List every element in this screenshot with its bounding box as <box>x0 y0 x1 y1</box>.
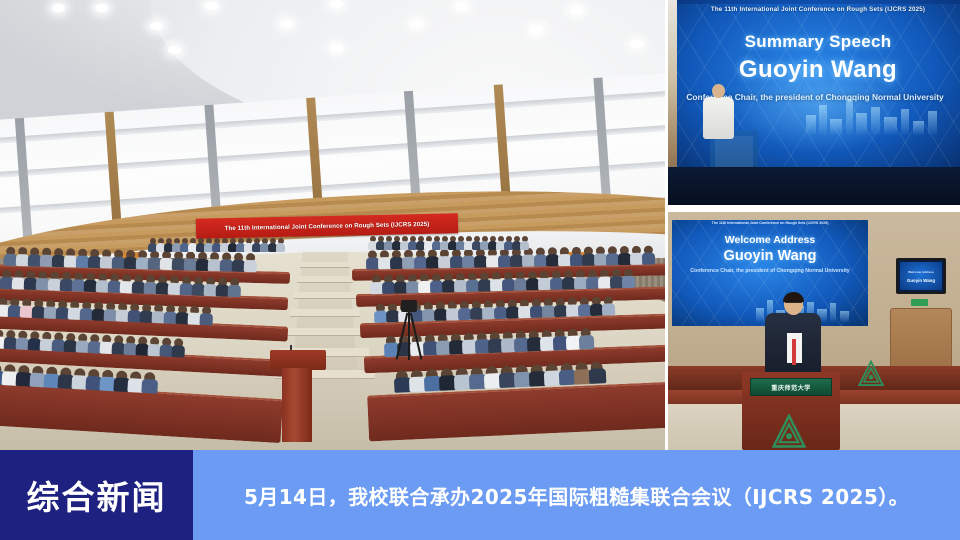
skyline-building <box>928 111 937 135</box>
speaker-podium <box>270 350 326 442</box>
speaker-figure <box>702 84 736 164</box>
ceiling-light-icon <box>205 2 218 10</box>
podium-top <box>270 350 326 370</box>
aisle-step <box>286 328 364 336</box>
monitor-title: Welcome Address <box>900 270 942 274</box>
skyline-building <box>830 119 842 135</box>
tripod-leg <box>410 312 423 359</box>
audience-row-back <box>370 236 530 250</box>
audience-row-back <box>150 238 286 252</box>
speaker-suit <box>765 313 821 379</box>
ceiling-light-icon <box>455 2 468 10</box>
skyline-building <box>884 117 897 135</box>
slide-speaker-role: Conference Chair, the president of Chong… <box>672 268 868 274</box>
skyline-graphic <box>802 95 952 135</box>
aisle-step <box>297 276 353 283</box>
ceiling-light-icon <box>52 4 65 12</box>
skyline-building <box>846 99 853 135</box>
news-image-card: The 11th International Joint Conference … <box>0 0 960 540</box>
slide-speaker-name: Guoyin Wang <box>672 248 868 264</box>
news-headline-text: 5月14日，我校联合承办2025年国际粗糙集联合会议（IJCRS 2025）。 <box>244 481 909 510</box>
speaker-head <box>712 84 725 98</box>
tripod-leg <box>408 312 410 360</box>
photo-summary-speech: The 11th International Joint Conference … <box>668 0 960 205</box>
aisle-step <box>290 309 360 317</box>
ceiling-light-icon <box>330 44 343 52</box>
skyline-building <box>901 109 909 135</box>
exit-sign-icon <box>911 299 928 306</box>
slide-title: Welcome Address <box>672 234 868 246</box>
speaker-body <box>703 97 734 139</box>
video-camera-icon <box>401 300 417 312</box>
ceiling-light-icon <box>570 6 583 14</box>
side-monitor: Welcome Address Guoyin Wang <box>896 258 946 294</box>
slide-conference-line: The 11th International Joint Conference … <box>712 221 829 225</box>
monitor-speaker-name: Guoyin Wang <box>900 278 942 283</box>
speaker-hair <box>783 292 804 302</box>
news-category-block[interactable]: 综合新闻 <box>0 450 193 540</box>
aisle-step <box>294 292 356 299</box>
skyline-building <box>756 308 764 322</box>
photo-main-auditorium: The 11th International Joint Conference … <box>0 0 665 450</box>
skyline-building <box>806 115 816 135</box>
caption-bar: 综合新闻 5月14日，我校联合承办2025年国际粗糙集联合会议（IJCRS 20… <box>0 450 960 540</box>
aisle-step <box>300 262 350 268</box>
photo-welcome-address: The 11th International Joint Conference … <box>668 212 960 450</box>
slide-title: Summary Speech <box>676 32 960 52</box>
skyline-building <box>819 105 827 135</box>
ceiling-light-icon <box>150 22 163 30</box>
ceiling-light-icon <box>330 0 343 8</box>
podium-column <box>282 368 312 442</box>
camera-tripod <box>395 300 423 360</box>
ceiling-light-icon <box>630 40 643 48</box>
ceiling-light-icon <box>95 4 108 12</box>
podium-university-name: 重庆师范大学 <box>771 383 811 392</box>
ceiling-light-icon <box>530 26 543 34</box>
university-emblem-icon <box>772 414 806 450</box>
university-emblem-icon <box>858 360 884 388</box>
news-category-label: 综合新闻 <box>27 471 167 519</box>
side-monitor-screen: Welcome Address Guoyin Wang <box>900 262 942 290</box>
skyline-building <box>840 311 849 322</box>
slide-speaker-name: Guoyin Wang <box>676 56 960 84</box>
stage-front <box>668 167 960 205</box>
skyline-building <box>913 121 924 135</box>
ceiling-light-icon <box>410 20 423 28</box>
slide-conference-line: The 11th International Joint Conference … <box>711 6 925 13</box>
skyline-building <box>871 107 880 135</box>
podium-nameplate: 重庆师范大学 <box>750 378 832 396</box>
speaker-lanyard <box>792 339 796 365</box>
glasses-icon <box>785 302 802 306</box>
tripod-leg <box>396 312 409 359</box>
news-headline-block[interactable]: 5月14日，我校联合承办2025年国际粗糙集联合会议（IJCRS 2025）。 <box>193 450 960 540</box>
skyline-building <box>830 303 836 322</box>
photo-gap-horizontal <box>668 205 960 212</box>
ceiling-light-icon <box>168 46 181 54</box>
ceiling-light-icon <box>280 20 293 28</box>
skyline-building <box>856 113 867 135</box>
